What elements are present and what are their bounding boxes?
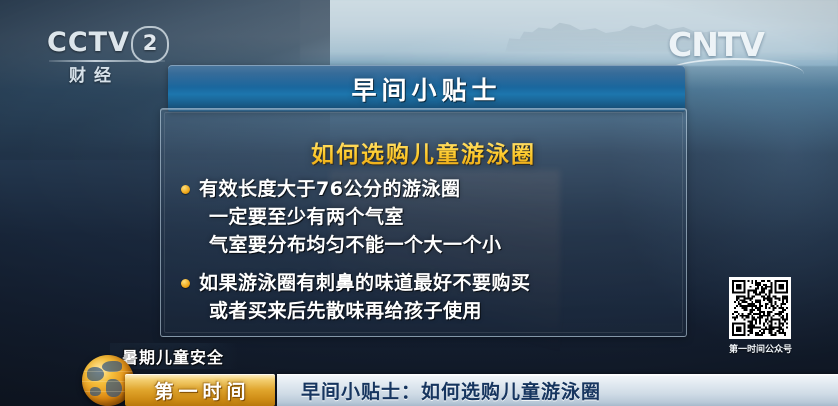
- cntv-network-logo: CNTV: [668, 28, 808, 76]
- news-ticker-bar: 早间小贴士：如何选购儿童游泳圈: [277, 374, 838, 406]
- cctv-channel-subtitle: 财经: [69, 61, 119, 86]
- panel-subtitle: 如何选购儿童游泳圈: [161, 135, 686, 169]
- content-panel: 如何选购儿童游泳圈 有效长度大于76公分的游泳圈 一定要至少有两个气室 气室要分…: [160, 108, 687, 337]
- program-name: 第一时间: [149, 377, 250, 404]
- qr-code-icon: [729, 277, 791, 339]
- ticker-headline: 早间小贴士：如何选购儿童游泳圈: [277, 377, 601, 404]
- qr-code-block: 第一时间公众号: [729, 277, 791, 355]
- bullet-text-block: 如果游泳圈有刺鼻的味道最好不要购买 或者买来后先散味再给孩子使用: [199, 269, 672, 325]
- bullet-text-block: 有效长度大于76公分的游泳圈 一定要至少有两个气室 气室要分布均匀不能一个大一个…: [199, 175, 672, 259]
- globe-landmass: [87, 367, 104, 381]
- tv-broadcast-screen: CCTV 2 财经 CNTV 早间小贴士 如何选购儿童游泳圈 有效长度大于76公…: [0, 0, 838, 406]
- list-item: 有效长度大于76公分的游泳圈 一定要至少有两个气室 气室要分布均匀不能一个大一个…: [181, 175, 672, 259]
- segment-title: 早间小贴士: [168, 65, 685, 112]
- qr-code-caption: 第一时间公众号: [729, 342, 791, 355]
- cctv-channel-number: 2: [131, 26, 169, 63]
- qr-code-canvas: [732, 280, 788, 336]
- bullet-list: 有效长度大于76公分的游泳圈 一定要至少有两个气室 气室要分布均匀不能一个大一个…: [181, 175, 672, 335]
- list-item: 如果游泳圈有刺鼻的味道最好不要购买 或者买来后先散味再给孩子使用: [181, 269, 672, 325]
- segment-title-bar: 早间小贴士: [168, 65, 685, 112]
- bullet-line: 如果游泳圈有刺鼻的味道最好不要购买: [199, 269, 672, 297]
- cntv-wordmark: CNTV: [668, 28, 808, 62]
- globe-gridline: [82, 371, 134, 372]
- program-name-badge: 第一时间: [125, 374, 275, 406]
- bullet-dot-icon: [181, 185, 190, 194]
- topic-label: 暑期儿童安全: [122, 344, 224, 368]
- bullet-line: 一定要至少有两个气室: [199, 203, 672, 231]
- bullet-dot-icon: [181, 279, 190, 288]
- bullet-line: 或者买来后先散味再给孩子使用: [199, 297, 672, 325]
- cctv-channel-logo: CCTV 2 财经: [47, 28, 187, 86]
- bullet-line: 气室要分布均匀不能一个大一个小: [199, 231, 672, 259]
- bullet-line: 有效长度大于76公分的游泳圈: [199, 175, 672, 203]
- ticker-top-highlight: [277, 374, 838, 376]
